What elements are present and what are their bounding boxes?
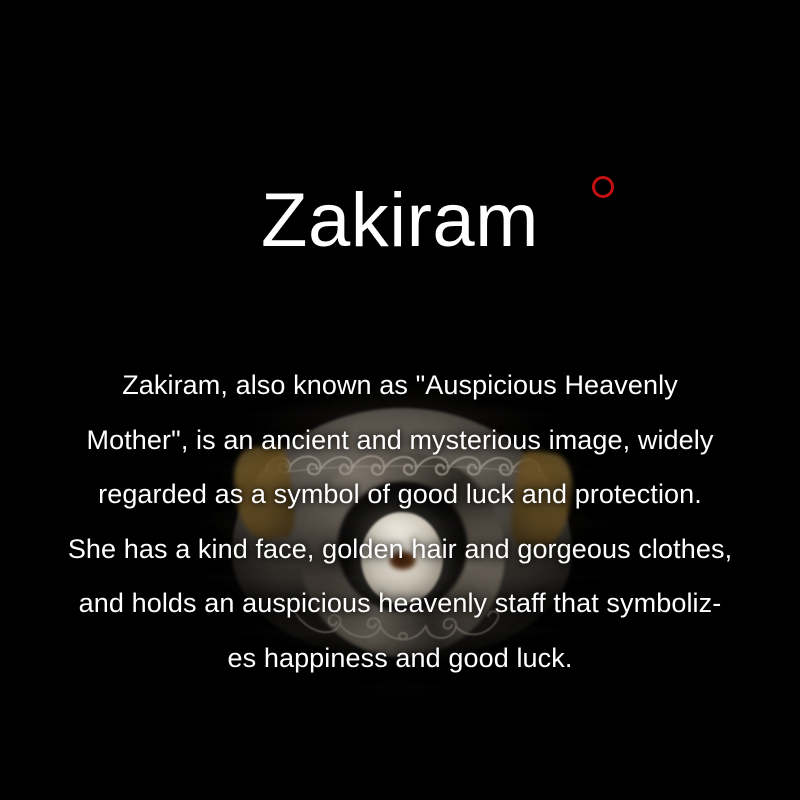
description-line: She has a kind face, golden hair and gor… — [40, 522, 760, 577]
description-paragraph: Zakiram, also known as "Auspicious Heave… — [40, 358, 760, 685]
page-title: Zakiram — [0, 183, 800, 259]
red-circle-icon — [592, 176, 614, 198]
description-line: regarded as a symbol of good luck and pr… — [40, 467, 760, 522]
description-line: es happiness and good luck. — [40, 631, 760, 686]
product-detail-banner: Zakiram Zakiram, also known as "Auspicio… — [0, 0, 800, 800]
description-line: and holds an auspicious heavenly staff t… — [40, 576, 760, 631]
description-line: Zakiram, also known as "Auspicious Heave… — [40, 358, 760, 413]
description-line: Mother", is an ancient and mysterious im… — [40, 413, 760, 468]
text-overlay: Zakiram Zakiram, also known as "Auspicio… — [0, 0, 800, 800]
